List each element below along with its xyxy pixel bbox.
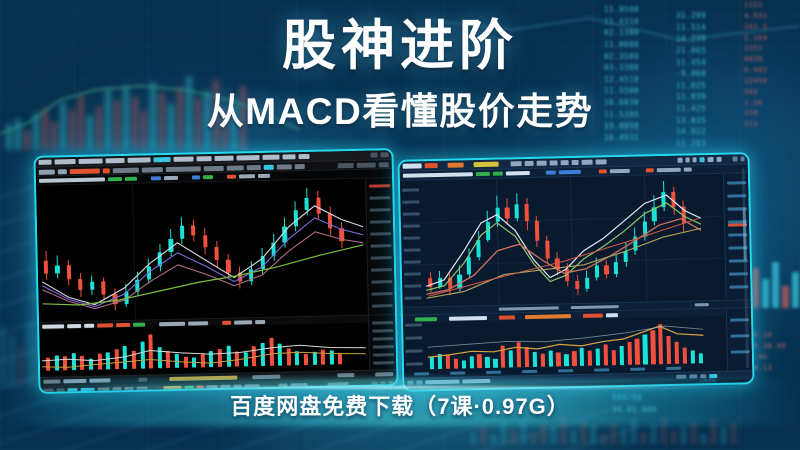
axis-tick [414, 372, 429, 375]
axis-tick [450, 371, 465, 374]
menu-item[interactable] [237, 155, 260, 160]
legend-gray [258, 174, 270, 178]
right-moving-averages [422, 174, 705, 306]
macd-label [255, 319, 265, 323]
indicator-label [403, 172, 473, 178]
subchart-value [695, 303, 709, 307]
tool-label[interactable] [379, 162, 389, 167]
right-price-axis-left [400, 180, 425, 306]
axis-tick [369, 196, 390, 199]
axis-tick [370, 208, 391, 211]
axis-tick [372, 321, 393, 324]
left-macd-volume-subchart[interactable] [39, 314, 396, 377]
headline-block: 股神进阶 从MACD看懂股价走势 [0, 18, 800, 135]
background-bar [640, 432, 647, 444]
legend-gray [684, 167, 692, 171]
volume-label [606, 313, 618, 317]
background-bar [680, 426, 687, 444]
menu-item[interactable] [128, 157, 151, 162]
axis-tick [372, 329, 393, 332]
tool-label[interactable] [113, 167, 138, 173]
axis-tick [373, 361, 394, 364]
tool-label[interactable] [247, 165, 261, 170]
tool-button-yellow[interactable] [474, 162, 499, 168]
volume-label [449, 315, 487, 320]
tool-button-red[interactable] [102, 168, 110, 173]
spacer [502, 161, 508, 166]
symbol-label [403, 163, 422, 168]
left-candlestick-chart[interactable] [36, 178, 395, 322]
spacer [633, 168, 643, 173]
window-minimize-icon[interactable] [733, 156, 737, 161]
gear-icon[interactable] [700, 157, 705, 162]
legend-blue [559, 170, 581, 174]
menu-item-active[interactable] [153, 157, 170, 162]
spacer [440, 163, 444, 168]
axis-tick [373, 353, 394, 356]
spacer [406, 307, 496, 314]
spacer [533, 170, 543, 175]
background-bar [650, 424, 657, 444]
menu-item[interactable] [595, 159, 607, 164]
spacer [518, 314, 522, 319]
menu-item[interactable] [298, 154, 309, 159]
icon-button[interactable] [708, 157, 714, 162]
axis-tick [372, 292, 393, 295]
tool-button-red[interactable] [70, 168, 99, 174]
status-item[interactable] [338, 373, 355, 377]
background-bar [762, 279, 769, 308]
right-volume-ma-line [425, 317, 706, 369]
menu-item[interactable] [525, 161, 534, 166]
macd-value-red [97, 323, 113, 327]
tool-label[interactable] [226, 165, 244, 170]
menu-item[interactable] [262, 155, 279, 160]
axis-tick [403, 224, 420, 227]
macd-label [188, 321, 208, 325]
spacer [313, 153, 368, 159]
window-close-icon[interactable] [381, 152, 389, 157]
poster-canvas: 11.9500 11.4310 02.1380 11.8600 02.3580 … [0, 0, 800, 450]
legend-red [646, 168, 654, 172]
legend-green [108, 177, 122, 181]
legend-blue [151, 176, 161, 180]
tool-label[interactable] [338, 162, 354, 167]
macd-label [84, 323, 94, 327]
axis-tick [404, 260, 421, 263]
legend-red [583, 313, 603, 317]
tool-label[interactable] [141, 167, 163, 172]
background-bar [670, 430, 677, 444]
legend-red [227, 175, 236, 179]
menu-item[interactable] [215, 156, 234, 161]
status-item[interactable] [375, 372, 393, 376]
macd-label [159, 321, 185, 326]
right-candlestick-chart[interactable] [400, 173, 751, 307]
macd-label [42, 324, 64, 328]
legend-green [493, 172, 503, 176]
stock-terminal-left-panel[interactable] [33, 148, 398, 394]
axis-tick [522, 370, 537, 373]
spacer [216, 174, 224, 179]
menu-item[interactable] [55, 159, 76, 164]
menu-item[interactable] [78, 158, 103, 164]
axis-tick [402, 188, 419, 191]
background-bar [752, 268, 759, 308]
tool-label[interactable] [57, 169, 67, 174]
left-moving-averages [36, 179, 369, 322]
spacer [467, 162, 471, 167]
spacer [148, 321, 156, 326]
spacer [724, 157, 730, 162]
spacer [211, 320, 219, 325]
spacer [357, 372, 372, 377]
macd-value-red [116, 322, 130, 326]
axis-tick [372, 337, 393, 340]
menu-item[interactable] [106, 158, 125, 163]
axis-tick [370, 244, 391, 247]
menu-item[interactable] [550, 160, 557, 165]
axis-tick [406, 362, 423, 365]
macd-value-green [133, 322, 145, 326]
legend-gray [239, 174, 255, 178]
tool-button-orange[interactable] [448, 162, 464, 167]
legend-orange [525, 314, 571, 319]
macd-label [67, 323, 81, 327]
background-bar [792, 272, 799, 308]
legend-green [125, 177, 137, 181]
window-minimize-icon[interactable] [370, 152, 378, 157]
axis-tick [373, 345, 394, 348]
menu-item[interactable] [582, 160, 592, 165]
tool-label[interactable] [204, 165, 224, 170]
legend-gray [610, 169, 630, 173]
icon-button[interactable] [693, 157, 697, 162]
menu-item[interactable] [39, 160, 52, 165]
axis-tick [486, 371, 501, 374]
legend-blue [192, 175, 200, 179]
tool-label[interactable] [276, 164, 292, 169]
axis-tick [371, 280, 392, 283]
tool-label[interactable] [264, 164, 274, 169]
axis-tick [405, 336, 422, 339]
menu-item[interactable] [173, 156, 194, 161]
axis-tick [403, 248, 420, 251]
axis-tick [404, 272, 421, 275]
axis-tick [405, 323, 422, 326]
menu-item[interactable] [572, 160, 579, 165]
legend-red [499, 315, 515, 319]
footer-download-text: 百度网盘免费下载（7课·0.97G） [0, 389, 800, 421]
left-price-axis [365, 178, 395, 315]
macd-chip-red [222, 320, 231, 324]
legend-blue [546, 170, 556, 174]
left-macd-lines [39, 324, 370, 377]
spacer [140, 176, 148, 181]
stock-terminal-right-panel[interactable] [398, 152, 755, 392]
subchart-title [499, 306, 559, 311]
axis-tick [630, 368, 645, 371]
axis-tick [370, 220, 391, 223]
icon-button[interactable] [685, 157, 689, 162]
legend-red [599, 169, 607, 173]
spacer [610, 158, 675, 164]
axis-tick [371, 268, 392, 271]
axis-tick [403, 212, 420, 215]
page-title: 股神进阶 [0, 18, 800, 74]
axis-tick [402, 200, 419, 203]
axis-tick [372, 304, 393, 307]
tool-label[interactable] [356, 162, 376, 167]
axis-tick [371, 256, 392, 259]
macd-label [234, 320, 252, 324]
right-volume-subchart[interactable] [403, 308, 752, 378]
menu-item[interactable] [282, 154, 295, 159]
tool-label[interactable] [166, 166, 201, 172]
axis-tick [404, 284, 421, 287]
axis-tick [370, 232, 391, 235]
axis-tick [403, 236, 420, 239]
indicator-label [506, 171, 530, 176]
symbol-label [39, 177, 105, 182]
right-volume-axis-left [403, 315, 426, 377]
spacer [308, 163, 335, 169]
spacer [181, 175, 189, 180]
legend-gray [164, 176, 178, 180]
price-chip-red[interactable] [424, 163, 437, 168]
spacer [584, 169, 596, 174]
menu-item[interactable] [560, 160, 569, 165]
icon-button[interactable] [678, 158, 682, 163]
spacer [490, 315, 496, 320]
axis-tick [404, 296, 421, 299]
spacer [574, 313, 580, 318]
background-bar [782, 286, 789, 308]
icon-button[interactable] [717, 157, 721, 162]
legend-gray [657, 168, 681, 173]
left-volume-axis [368, 315, 396, 370]
subchart-title [571, 305, 619, 310]
spacer [622, 302, 692, 309]
tool-label[interactable] [295, 164, 305, 169]
axis-tick [406, 349, 423, 352]
axis-tick [594, 368, 609, 371]
menu-item[interactable] [537, 161, 547, 166]
spacer [562, 305, 568, 310]
axis-tick [558, 369, 573, 372]
background-bar [772, 262, 779, 308]
axis-tick [666, 367, 681, 370]
page-subtitle: 从MACD看懂股价走势 [0, 81, 800, 135]
window-close-icon[interactable] [740, 156, 744, 161]
spacer [440, 316, 446, 321]
tool-label[interactable] [39, 169, 55, 174]
legend-green [476, 172, 490, 176]
legend-green [203, 175, 213, 179]
menu-item[interactable] [510, 161, 522, 166]
menu-item[interactable] [197, 156, 212, 161]
